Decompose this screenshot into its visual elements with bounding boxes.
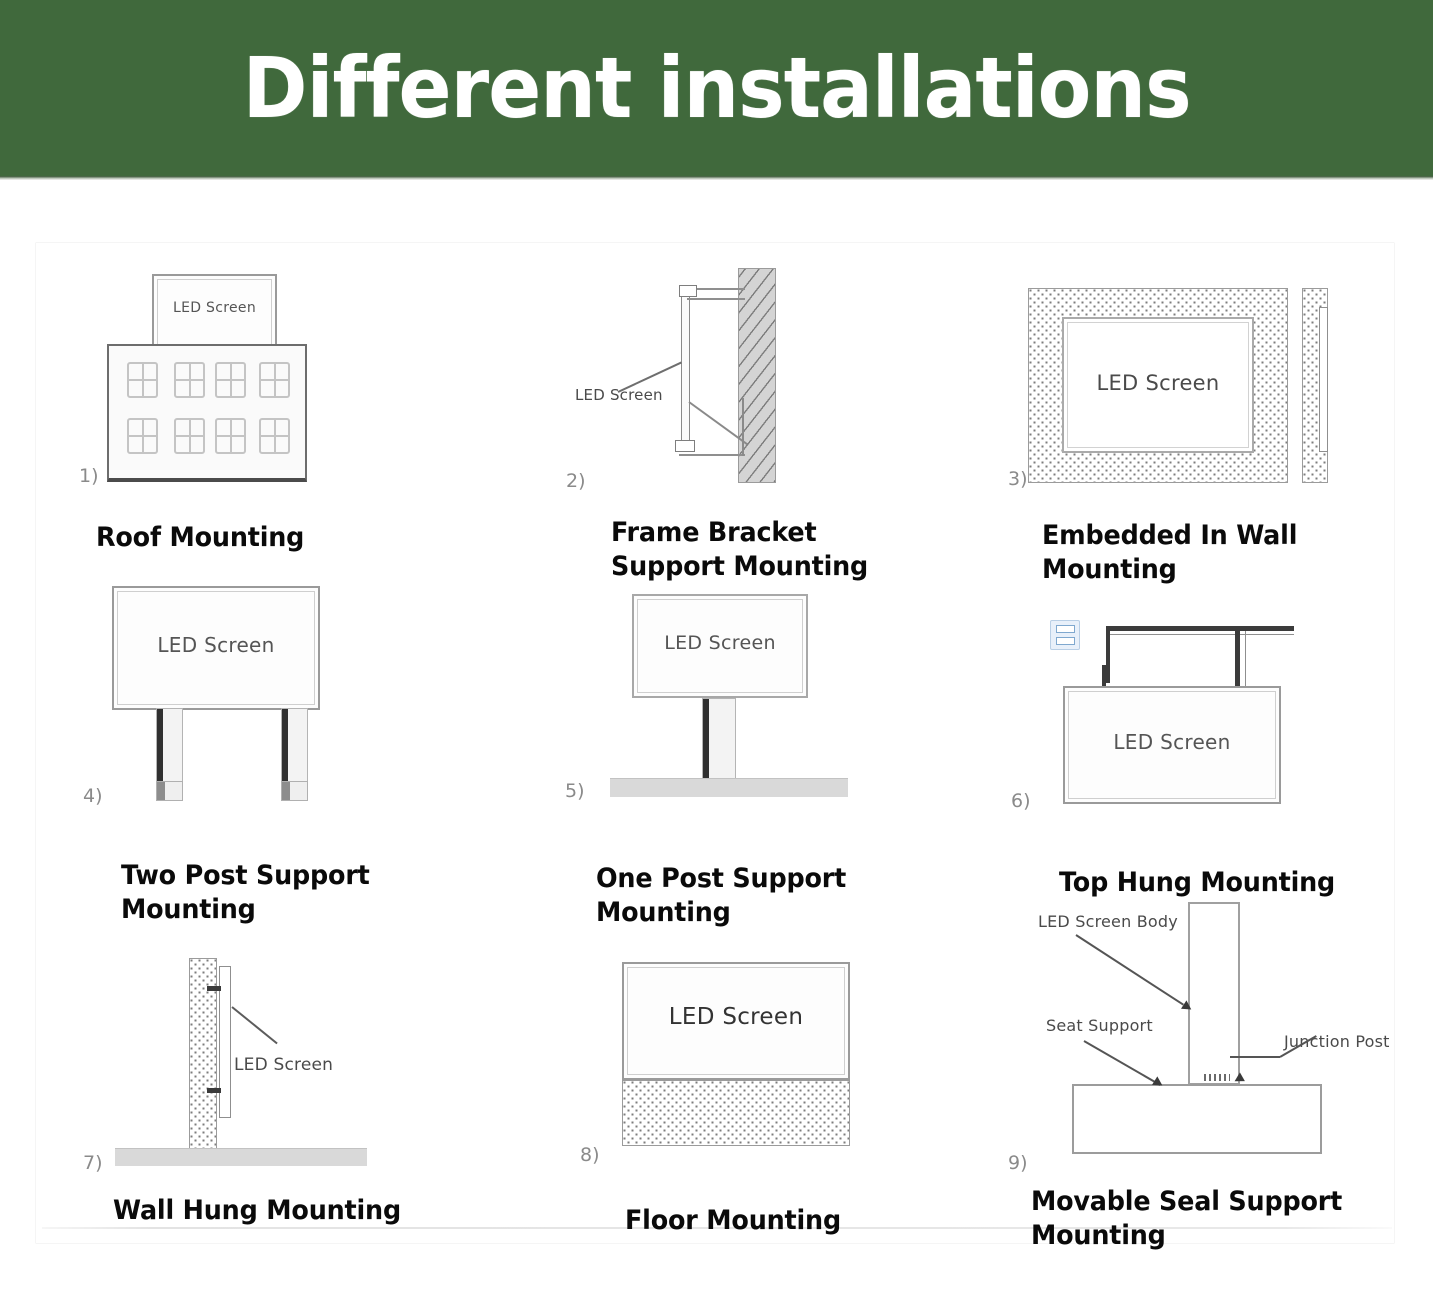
roof-mounting-diagram: LED Screen 1) xyxy=(75,258,375,488)
broken-image-icon xyxy=(1050,620,1080,650)
installation-item-8: LED Screen 8) xyxy=(560,948,960,1178)
installation-item-5: LED Screen 5) xyxy=(560,588,960,838)
ground-base xyxy=(115,1148,367,1166)
two-post-support-diagram: LED Screen 4) xyxy=(85,578,425,818)
screen-label: LED Screen xyxy=(234,1055,333,1075)
floor-led-screen: LED Screen xyxy=(622,962,850,1080)
annotation-led-screen-body: LED Screen Body xyxy=(1038,912,1178,931)
figure-index: 3) xyxy=(1008,468,1028,490)
figure-index: 4) xyxy=(83,785,103,807)
figure-index: 6) xyxy=(1011,790,1031,812)
building-window xyxy=(174,418,205,454)
bracket-led-screen xyxy=(681,288,690,448)
floor-plinth-stippled xyxy=(622,1080,850,1146)
page-header: Different installations xyxy=(0,0,1433,176)
caption-two-post-support: Two Post Support Mounting xyxy=(121,859,447,927)
caption-frame-bracket: Frame Bracket Support Mounting xyxy=(611,516,937,584)
hanger-right-edge xyxy=(1245,631,1246,687)
embedded-led-screen: LED Screen xyxy=(1062,317,1254,453)
screen-label: LED Screen xyxy=(114,633,318,657)
seat-support-base xyxy=(1072,1084,1322,1154)
building-window xyxy=(127,418,158,454)
bracket-arm-bottom xyxy=(679,454,745,456)
screen-label: LED Screen xyxy=(154,300,275,316)
figure-index: 7) xyxy=(83,1152,103,1174)
installation-item-9: LED Screen Body Seat Support Junction Po… xyxy=(1008,890,1428,1180)
figure-index: 5) xyxy=(565,780,585,802)
building-window xyxy=(174,362,205,398)
leader-line-screen-body xyxy=(1075,934,1183,1005)
building-window xyxy=(215,418,246,454)
installation-item-1: LED Screen 1) xyxy=(75,258,475,558)
bracket-clamp-top xyxy=(679,285,697,297)
top-hung-diagram: LED Screen 6) xyxy=(1008,608,1348,828)
post-base-left xyxy=(156,781,183,801)
ground-base xyxy=(610,778,848,797)
top-hung-led-screen: LED Screen xyxy=(1063,686,1281,804)
hanger-right xyxy=(1235,631,1240,687)
installation-item-4: LED Screen 4) xyxy=(85,578,485,828)
installation-item-3: LED Screen 3) xyxy=(1008,258,1408,508)
leader-line-junction-post xyxy=(1230,1056,1280,1058)
caption-wall-hung: Wall Hung Mounting xyxy=(113,1194,459,1228)
bracket-arm-top2 xyxy=(687,298,745,300)
caption-roof-mounting: Roof Mounting xyxy=(96,521,413,555)
figure-index: 9) xyxy=(1008,1152,1028,1174)
screen-label: LED Screen xyxy=(634,632,806,654)
roof-led-screen: LED Screen xyxy=(152,274,277,350)
screen-label: LED Screen xyxy=(575,386,663,404)
caption-movable-seal-support: Movable Seal Support Mounting xyxy=(1031,1185,1377,1253)
figure-index: 8) xyxy=(580,1144,600,1166)
movable-seal-support-diagram: LED Screen Body Seat Support Junction Po… xyxy=(1008,890,1428,1180)
screen-label: LED Screen xyxy=(1065,730,1279,754)
side-profile-screen xyxy=(1319,307,1328,452)
installation-item-6: LED Screen 6) xyxy=(1008,608,1408,858)
leader-line xyxy=(231,1006,277,1044)
building-window xyxy=(127,362,158,398)
two-post-led-screen: LED Screen xyxy=(112,586,320,710)
caption-floor-mounting: Floor Mounting xyxy=(625,1204,951,1238)
overhead-beam-underline xyxy=(1106,634,1294,635)
leader-line-seat-support xyxy=(1084,1040,1161,1086)
installation-item-2: LED Screen 2) xyxy=(560,258,960,508)
one-post-support-diagram: LED Screen 5) xyxy=(560,588,900,818)
mount-bracket-bottom xyxy=(207,1088,221,1093)
junction-post-marks xyxy=(1204,1074,1230,1081)
page-title: Different installations xyxy=(243,46,1191,130)
hanger-left xyxy=(1106,631,1110,683)
figure-index: 1) xyxy=(79,465,99,487)
support-post-center xyxy=(702,698,736,782)
floor-mounting-diagram: LED Screen 8) xyxy=(560,948,900,1168)
bracket-clamp-bottom xyxy=(675,440,695,452)
installation-item-7: LED Screen 7) xyxy=(85,948,485,1178)
embedded-wall-diagram: LED Screen 3) xyxy=(1008,258,1368,498)
overhead-beam xyxy=(1106,626,1294,631)
post-base-right xyxy=(281,781,308,801)
building-window xyxy=(259,362,290,398)
mount-bracket-top xyxy=(207,986,221,991)
caption-embedded-wall: Embedded In Wall Mounting xyxy=(1042,519,1368,587)
annotation-junction-post: Junction Post xyxy=(1284,1032,1390,1051)
annotation-seat-support: Seat Support xyxy=(1046,1016,1153,1035)
screen-label: LED Screen xyxy=(624,1004,848,1030)
wall-hung-diagram: LED Screen 7) xyxy=(85,948,425,1168)
frame-bracket-diagram: LED Screen 2) xyxy=(560,258,920,498)
caption-one-post-support: One Post Support Mounting xyxy=(596,862,922,930)
figure-index: 2) xyxy=(566,470,586,492)
building-window xyxy=(215,362,246,398)
one-post-led-screen: LED Screen xyxy=(632,594,808,698)
screen-label: LED Screen xyxy=(1064,371,1252,395)
bracket-vertical-edge xyxy=(742,398,744,456)
building-window xyxy=(259,418,290,454)
